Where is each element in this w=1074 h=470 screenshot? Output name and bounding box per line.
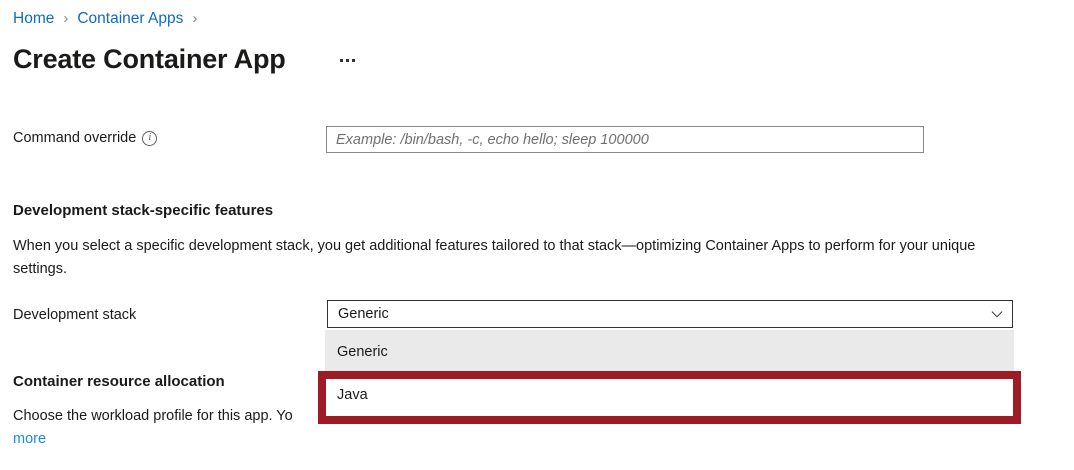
learn-more-link[interactable]: more [13, 431, 46, 447]
dev-stack-description: When you select a specific development s… [13, 235, 1013, 281]
breadcrumb-separator-icon-2: › [192, 8, 197, 30]
resource-allocation-more-link-wrap: more [13, 428, 46, 451]
info-icon[interactable]: i [142, 131, 157, 146]
resource-allocation-description-text: Choose the workload profile for this app… [13, 408, 293, 424]
dropdown-option-java[interactable]: Java [325, 373, 1014, 416]
command-override-label-text: Command override [13, 128, 136, 148]
development-stack-label-text: Development stack [13, 305, 136, 325]
breadcrumb-separator-icon: › [63, 8, 68, 30]
page-title: Create Container App [13, 40, 286, 78]
chevron-down-icon [990, 307, 1004, 321]
ellipsis-dot-icon [352, 59, 355, 62]
ellipsis-dot-icon [346, 59, 349, 62]
dropdown-option-java-label: Java [337, 387, 368, 403]
development-stack-label: Development stack [13, 305, 136, 325]
development-stack-selected-value: Generic [338, 304, 990, 324]
dropdown-option-generic-label: Generic [337, 344, 388, 360]
development-stack-dropdown-list: Generic Java [325, 330, 1014, 416]
breadcrumb-link-container-apps[interactable]: Container Apps [77, 8, 183, 30]
command-override-input[interactable] [326, 126, 924, 153]
command-override-label: Command override i [13, 128, 157, 148]
more-actions-button[interactable] [334, 49, 360, 71]
development-stack-combobox[interactable]: Generic [327, 300, 1013, 328]
breadcrumb: Home › Container Apps › [13, 8, 206, 30]
dropdown-option-generic[interactable]: Generic [325, 330, 1014, 373]
dev-stack-heading: Development stack-specific features [13, 200, 273, 221]
breadcrumb-link-home[interactable]: Home [13, 8, 54, 30]
resource-allocation-heading: Container resource allocation [13, 371, 225, 392]
ellipsis-dot-icon [340, 59, 343, 62]
